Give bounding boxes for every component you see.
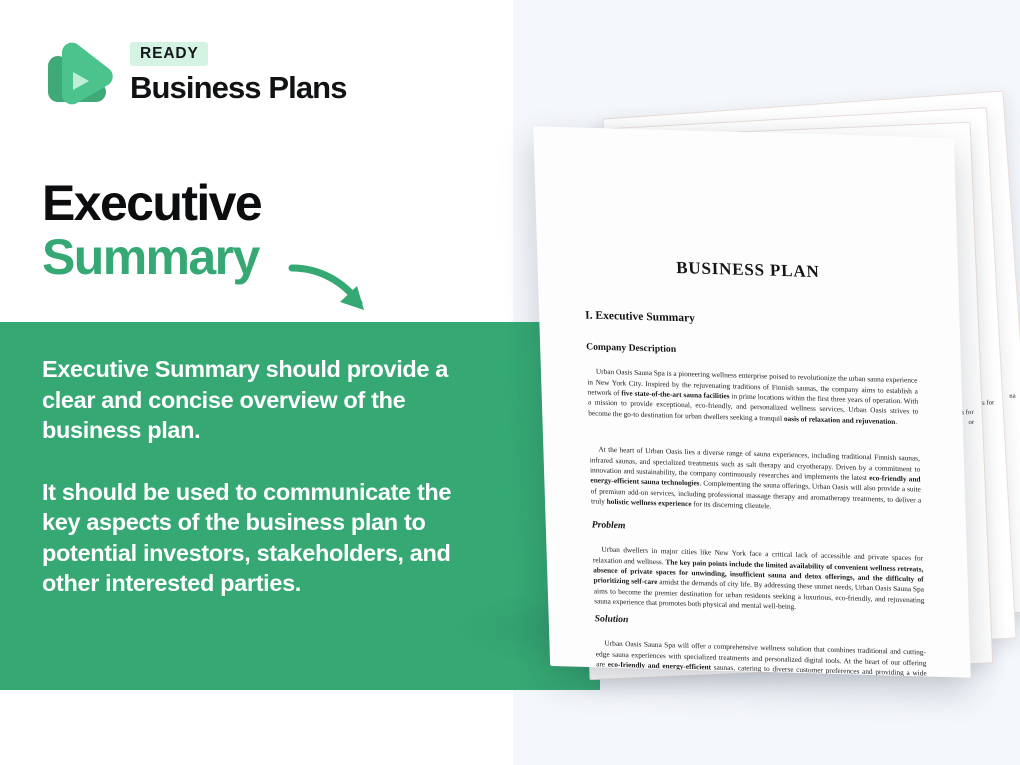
curved-down-right-arrow-icon — [286, 258, 381, 326]
document-paragraph-company-2: At the heart of Urban Oasis lies a diver… — [589, 445, 921, 516]
double-play-triangle-logo-icon — [42, 40, 114, 116]
doc-run-bold: holistic wellness experience — [607, 497, 692, 508]
page-title-line-1: Executive — [42, 178, 462, 229]
description-panel-content: Executive Summary should provide a clear… — [42, 354, 494, 599]
doc-run: for its discerning clientele. — [691, 499, 771, 510]
doc-run-bold: oasis of relaxation and rejuvenation — [784, 414, 896, 426]
page-title: Executive Summary — [42, 178, 462, 284]
document-subheading-problem: Problem — [592, 519, 626, 531]
document-paragraph-company-1: Urban Oasis Sauna Spa is a pioneering we… — [587, 367, 919, 428]
doc-run: . — [895, 417, 897, 426]
document-page-content: BUSINESS PLAN I. Executive Summary Compa… — [533, 126, 971, 677]
document-stack[interactable]: na na sh by a nts al its for sauna ons a… — [470, 60, 1020, 680]
document-page-front[interactable]: BUSINESS PLAN I. Executive Summary Compa… — [533, 126, 971, 677]
document-subheading-solution: Solution — [595, 613, 629, 625]
brand-logo[interactable]: READY Business Plans — [42, 38, 372, 118]
ready-badge: READY — [130, 42, 208, 66]
document-title: BUSINESS PLAN — [537, 254, 958, 286]
brand-logo-text: READY Business Plans — [130, 42, 370, 104]
slide-canvas: READY Business Plans Executive Summary E… — [0, 0, 1020, 765]
document-section-heading: I. Executive Summary — [585, 309, 695, 324]
description-paragraph-2: It should be used to communicate the key… — [42, 477, 494, 599]
document-subheading-company-description: Company Description — [586, 341, 676, 355]
brand-name: Business Plans — [130, 71, 370, 104]
document-paragraph-problem: Urban dwellers in major cities like New … — [592, 545, 924, 616]
description-paragraph-1: Executive Summary should provide a clear… — [42, 354, 494, 446]
page-title-line-2: Summary — [42, 231, 462, 284]
